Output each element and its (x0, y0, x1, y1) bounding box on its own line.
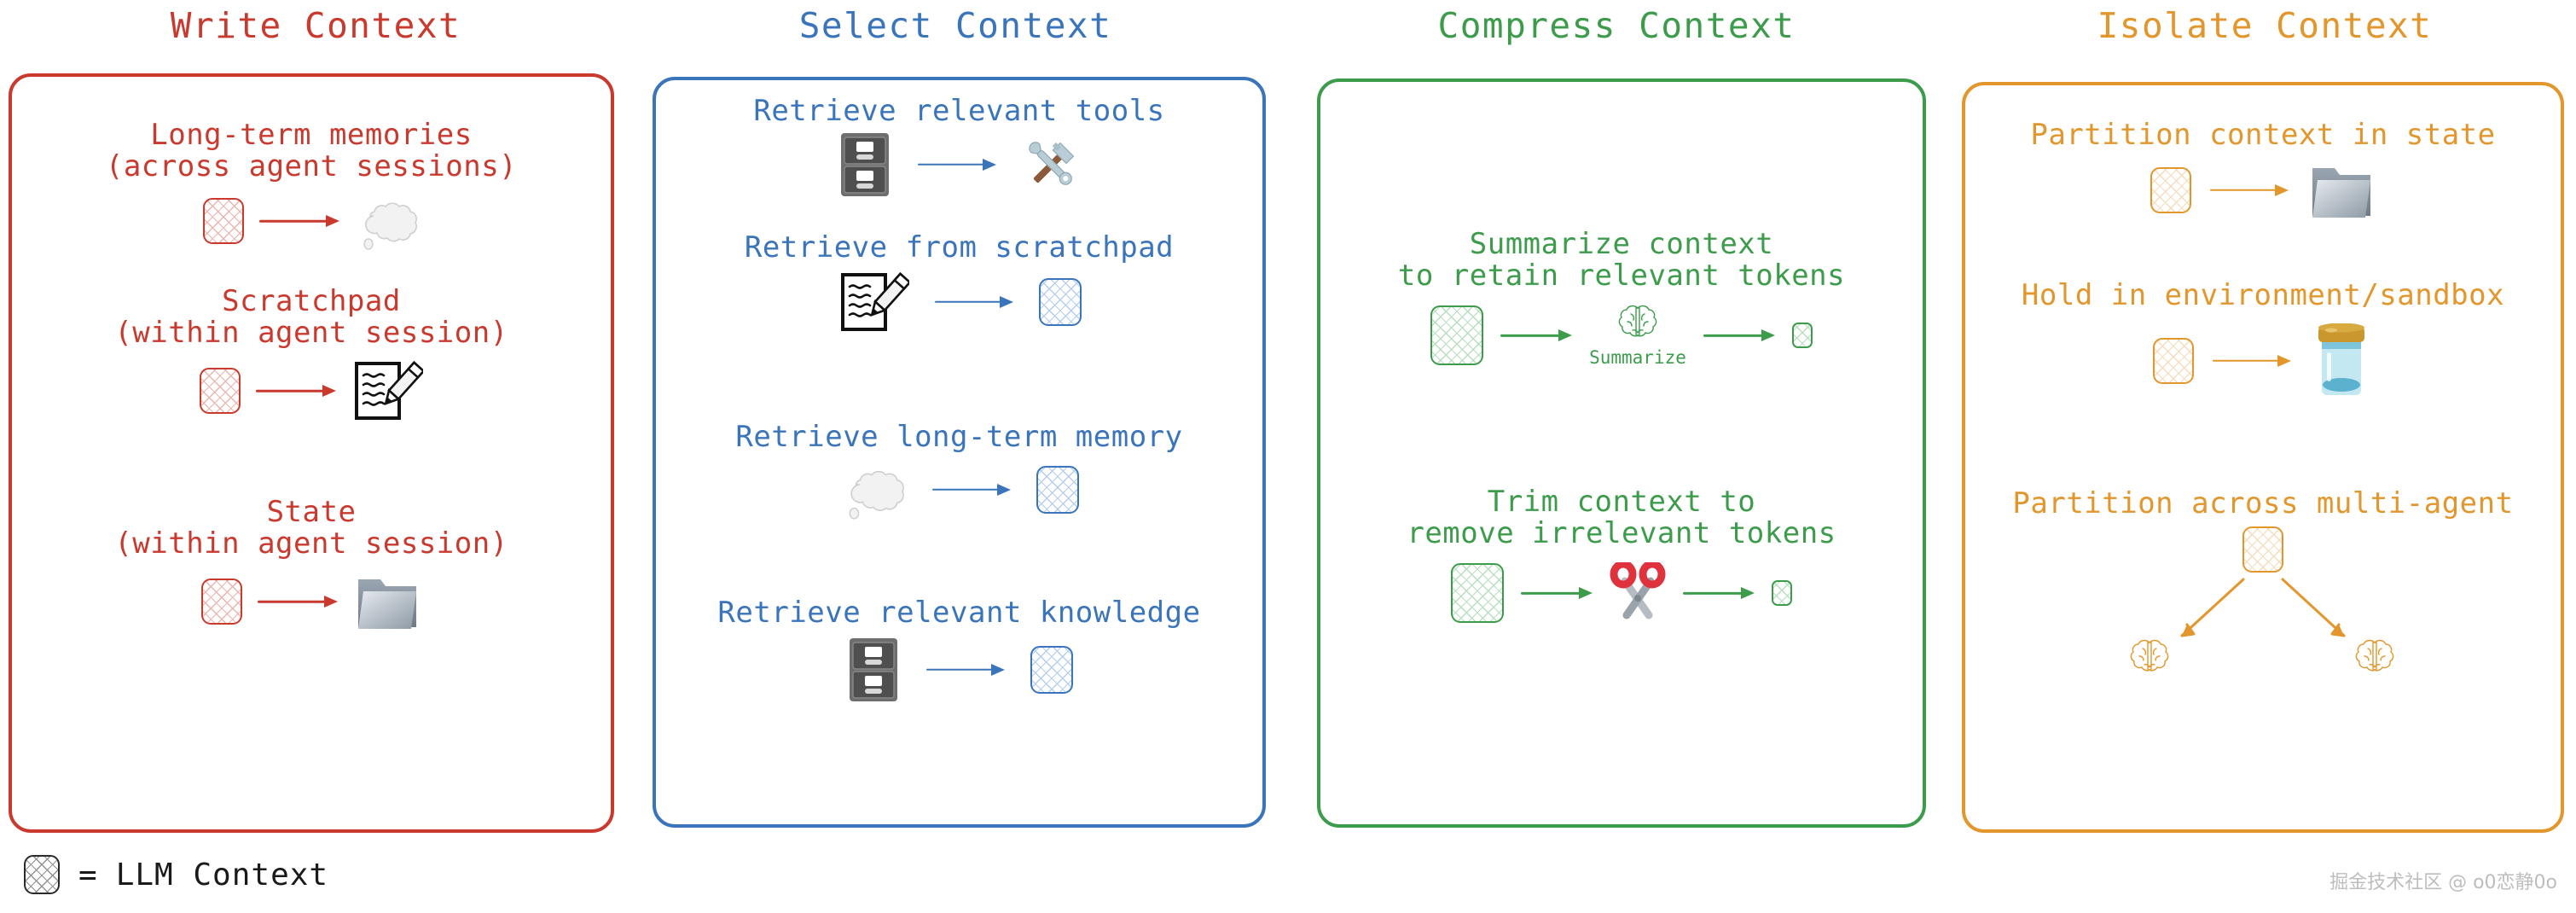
group-label-trim-context: Trim context to remove irrelevant tokens (1317, 486, 1926, 549)
group-label-retrieve-from-scratchpad: Retrieve from scratchpad (653, 232, 1266, 264)
llm-context-block (2150, 167, 2191, 213)
file-cabinet-icon (838, 131, 892, 199)
column-write-context: Write Context Long-term memories (across… (0, 0, 631, 913)
arrow-right-icon (918, 163, 996, 166)
thought-cloud-icon (355, 190, 420, 252)
group-label-retrieve-long-term-memory: Retrieve long-term memory (653, 422, 1266, 453)
arrow-right-icon (2213, 359, 2291, 363)
group-label-summarize-context: Summarize context to retain relevant tok… (1317, 229, 1926, 291)
group-retrieve-relevant-tools: Retrieve relevant tools (653, 96, 1266, 199)
llm-context-block (200, 368, 241, 414)
group-retrieve-relevant-knowledge: Retrieve relevant knowledge (653, 597, 1266, 704)
llm-context-block-small (1772, 580, 1792, 606)
group-label-state: State (within agent session) (9, 497, 614, 559)
group-label-partition-context-in-state: Partition context in state (1962, 119, 2564, 151)
column-title-isolate-context: Isolate Context (1953, 5, 2576, 46)
flow-state (9, 571, 614, 632)
brain-caption: Summarize (1589, 347, 1686, 368)
llm-context-block-large (1451, 563, 1504, 623)
arrow-right-icon (1703, 334, 1775, 337)
flow-trim-context (1317, 562, 1926, 624)
legend: = LLM Context (24, 855, 328, 894)
legend-equals-sign: = (78, 858, 97, 893)
flow-partition-across-multi-agent (1962, 526, 2564, 748)
flow-partition-context-in-state (1962, 160, 2564, 221)
llm-context-block-small (1792, 323, 1813, 348)
group-label-retrieve-relevant-tools: Retrieve relevant tools (653, 96, 1266, 127)
legend-llm-context-swatch (24, 855, 60, 894)
flow-retrieve-relevant-knowledge (653, 636, 1266, 704)
thought-cloud-icon (840, 458, 907, 521)
arrow-right-icon (932, 488, 1011, 491)
arrow-right-icon (256, 389, 336, 393)
arrow-right-icon (1521, 591, 1593, 595)
file-cabinet-icon (846, 636, 901, 704)
arrow-right-icon (2210, 189, 2289, 192)
group-retrieve-from-scratchpad: Retrieve from scratchpad (653, 232, 1266, 335)
llm-context-block (1039, 278, 1082, 326)
memo-pencil-icon (838, 269, 909, 335)
llm-context-block (1036, 466, 1079, 514)
flow-summarize-context: Summarize (1317, 303, 1926, 368)
column-title-select-context: Select Context (631, 5, 1279, 46)
llm-context-block-large (1430, 305, 1483, 365)
arrow-right-icon (935, 300, 1013, 304)
column-title-compress-context: Compress Context (1279, 5, 1953, 46)
column-select-context: Select Context Retrieve relevant tools (631, 0, 1279, 913)
brain-icon (1614, 303, 1662, 346)
flow-scratchpad (9, 358, 614, 423)
llm-context-block (2153, 338, 2194, 384)
diagram-canvas: Write Context Long-term memories (across… (0, 0, 2576, 913)
file-folder-icon (353, 571, 421, 632)
column-compress-context: Compress Context Summarize context to re… (1279, 0, 1953, 913)
brain-summarize-node: Summarize (1589, 303, 1686, 368)
arrow-right-icon (1683, 591, 1755, 595)
flow-hold-in-environment-sandbox (1962, 323, 2564, 398)
group-scratchpad: Scratchpad (within agent session) (9, 286, 614, 423)
llm-context-block (201, 579, 242, 625)
group-trim-context: Trim context to remove irrelevant tokens (1317, 486, 1926, 624)
flow-long-term-memories (9, 190, 614, 252)
column-panel-compress-context (1317, 79, 1926, 828)
scissors-icon (1610, 562, 1666, 624)
group-long-term-memories: Long-term memories (across agent session… (9, 119, 614, 252)
group-label-hold-in-environment-sandbox: Hold in environment/sandbox (1962, 280, 2564, 311)
group-label-retrieve-relevant-knowledge: Retrieve relevant knowledge (653, 597, 1266, 629)
legend-label: LLM Context (116, 858, 328, 893)
column-isolate-context: Isolate Context Partition context in sta… (1953, 0, 2576, 913)
jar-icon (2310, 323, 2373, 398)
llm-context-block (203, 198, 244, 244)
hammer-and-wrench-icon (1022, 135, 1082, 195)
group-label-scratchpad: Scratchpad (within agent session) (9, 286, 614, 348)
memo-pencil-icon (351, 358, 423, 423)
column-title-write-context: Write Context (0, 5, 631, 46)
group-partition-across-multi-agent: Partition across multi-agent (1962, 488, 2564, 748)
group-retrieve-long-term-memory: Retrieve long-term memory (653, 422, 1266, 521)
watermark: 掘金技术社区 @ o0恋静0o (2329, 867, 2557, 894)
group-label-partition-across-multi-agent: Partition across multi-agent (1962, 488, 2564, 520)
arrow-right-icon (1500, 334, 1572, 337)
group-hold-in-environment-sandbox: Hold in environment/sandbox (1962, 280, 2564, 398)
llm-context-block (1030, 646, 1073, 694)
group-state: State (within agent session) (9, 497, 614, 632)
arrow-right-icon (259, 219, 339, 223)
arrow-right-icon (926, 668, 1005, 672)
flow-retrieve-from-scratchpad (653, 269, 1266, 335)
arrow-right-icon (258, 600, 338, 603)
brain-icon-right (2351, 637, 2399, 680)
group-partition-context-in-state: Partition context in state (1962, 119, 2564, 221)
group-summarize-context: Summarize context to retain relevant tok… (1317, 229, 1926, 368)
flow-retrieve-long-term-memory (653, 458, 1266, 521)
group-label-long-term-memories: Long-term memories (across agent session… (9, 119, 614, 182)
flow-retrieve-relevant-tools (653, 131, 1266, 199)
branch-arrows (1962, 526, 2564, 748)
file-folder-icon (2307, 160, 2376, 221)
brain-icon-left (2126, 637, 2173, 680)
